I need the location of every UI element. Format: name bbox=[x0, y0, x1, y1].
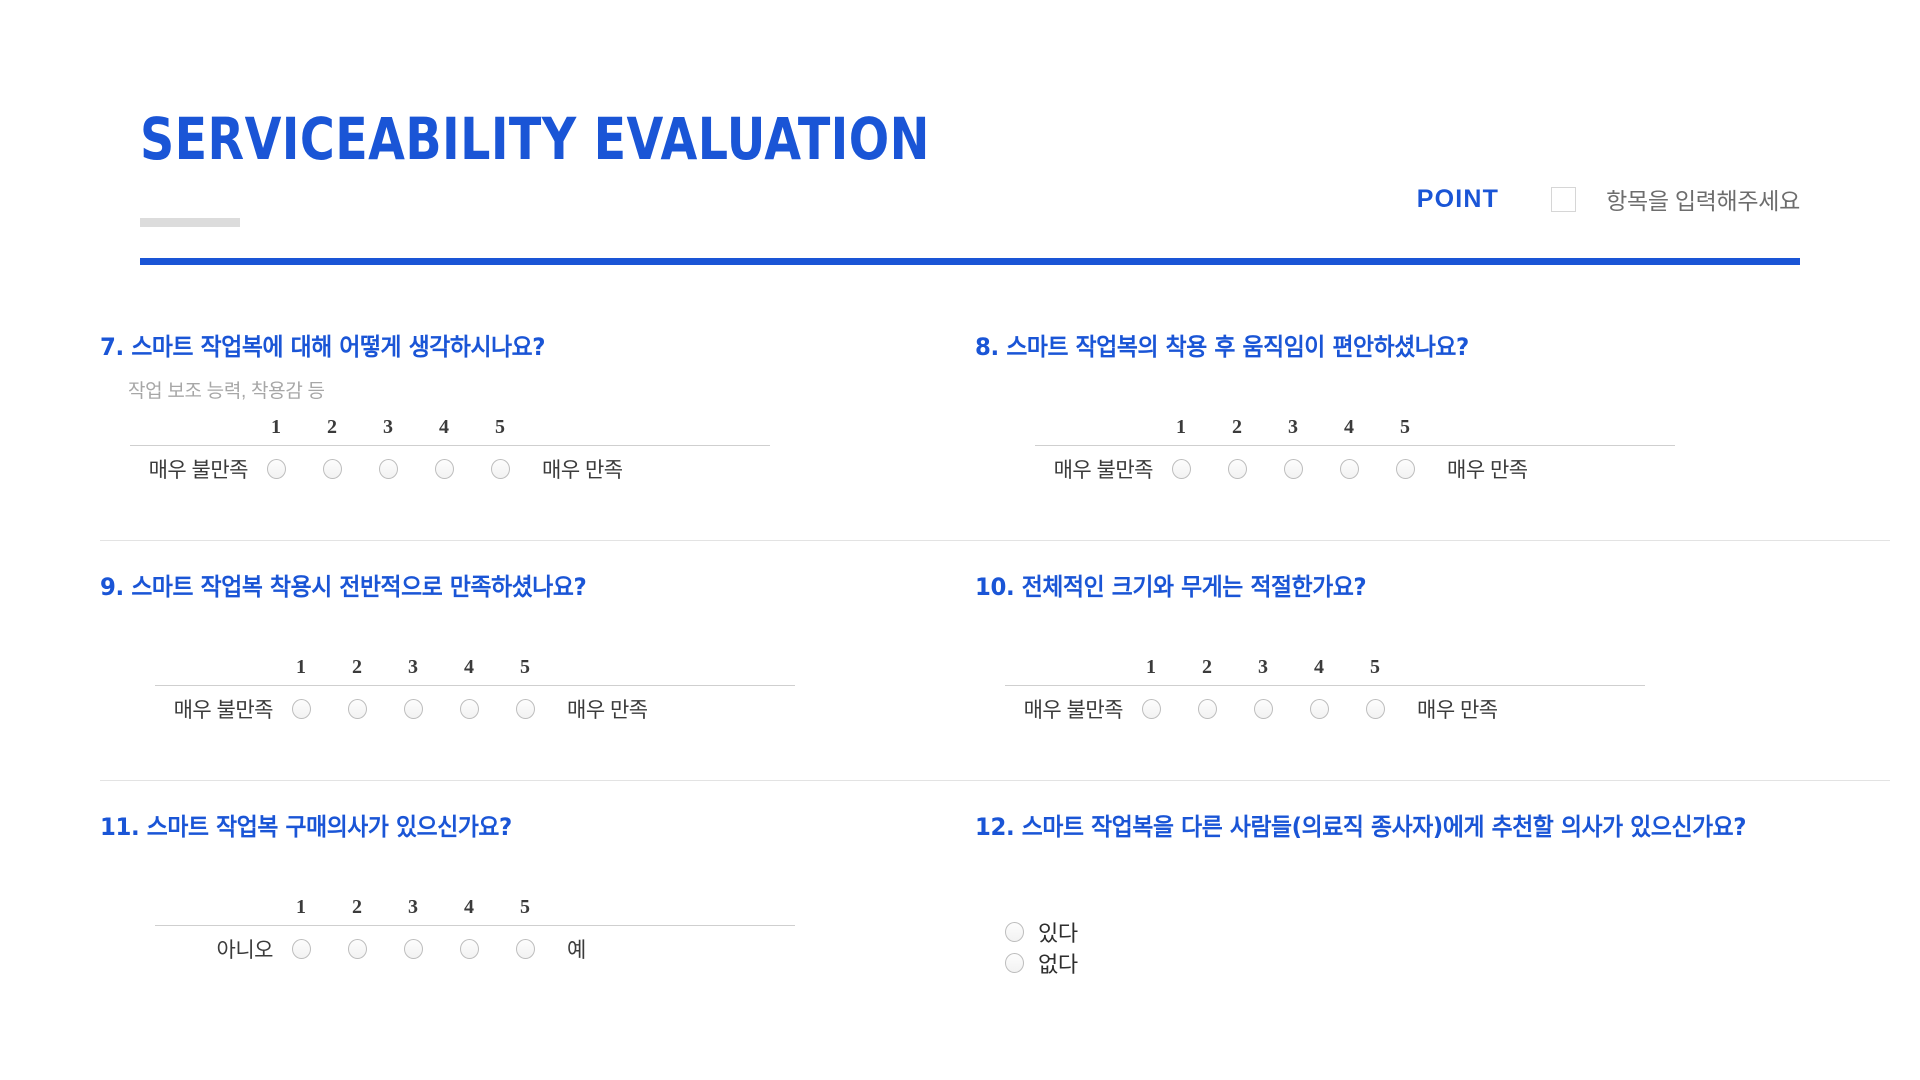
scale-number: 1 bbox=[1123, 656, 1179, 679]
question-title: 8. 스마트 작업복의 착용 후 움직임이 편안하셨나요? bbox=[975, 300, 1830, 368]
radio-button-icon[interactable] bbox=[435, 459, 454, 479]
scale-radio-cell-3[interactable] bbox=[385, 939, 441, 959]
scale-number: 4 bbox=[441, 896, 497, 919]
scale-right-label: 매우 만족 bbox=[1433, 454, 1528, 484]
radio-button-icon[interactable] bbox=[404, 699, 423, 719]
radio-button-icon[interactable] bbox=[1284, 459, 1303, 479]
scale-right-label: 매우 만족 bbox=[528, 454, 623, 484]
question-subtitle: 작업 보조 능력, 착용감 등 bbox=[128, 376, 960, 403]
scale-number: 2 bbox=[1209, 416, 1265, 439]
radio-button-icon[interactable] bbox=[1005, 922, 1024, 942]
scale-number-row: 1 2 3 4 5 bbox=[155, 891, 795, 919]
radio-button-icon[interactable] bbox=[404, 939, 423, 959]
scale-number: 3 bbox=[385, 656, 441, 679]
choice-item-yes[interactable]: 있다 bbox=[1005, 916, 1425, 947]
question-title: 9. 스마트 작업복 착용시 전반적으로 만족하셨나요? bbox=[100, 540, 917, 608]
scale-radio-cell-3[interactable] bbox=[385, 699, 441, 719]
header-divider-rule bbox=[140, 258, 1800, 265]
radio-button-icon[interactable] bbox=[516, 699, 535, 719]
header-right-group: POINT 항목을 입력해주세요 bbox=[1417, 182, 1800, 216]
item-input-placeholder[interactable]: 항목을 입력해주세요 bbox=[1606, 182, 1800, 216]
point-label: POINT bbox=[1417, 185, 1499, 214]
scale-radio-cell-4[interactable] bbox=[441, 939, 497, 959]
scale-number: 5 bbox=[1347, 656, 1403, 679]
likert-scale-9: 1 2 3 4 5 매우 불만족 매우 만족 bbox=[155, 651, 795, 732]
scale-left-label: 아니오 bbox=[155, 934, 273, 964]
scale-radio-cell-5[interactable] bbox=[497, 939, 553, 959]
scale-radio-cell-2[interactable] bbox=[304, 459, 360, 479]
scale-number-row: 1 2 3 4 5 bbox=[130, 411, 770, 439]
scale-number: 3 bbox=[1235, 656, 1291, 679]
radio-button-icon[interactable] bbox=[1310, 699, 1329, 719]
page-title: SERVICEABILITY EVALUATION bbox=[140, 110, 1501, 168]
scale-number: 3 bbox=[1265, 416, 1321, 439]
scale-radio-cell-5[interactable] bbox=[472, 459, 528, 479]
scale-number-row: 1 2 3 4 5 bbox=[155, 651, 795, 679]
scale-number: 2 bbox=[329, 896, 385, 919]
scale-radio-cell-1[interactable] bbox=[248, 459, 304, 479]
scale-radio-cell-4[interactable] bbox=[416, 459, 472, 479]
scale-radio-cell-5[interactable] bbox=[1347, 699, 1403, 719]
scale-radio-cell-5[interactable] bbox=[497, 699, 553, 719]
scale-radio-cell-3[interactable] bbox=[360, 459, 416, 479]
question-cell-12: 12. 스마트 작업복을 다른 사람들(의료직 종사자)에게 추천할 의사가 있… bbox=[975, 780, 1875, 1020]
scale-number: 4 bbox=[1321, 416, 1377, 439]
scale-number: 5 bbox=[497, 656, 553, 679]
radio-button-icon[interactable] bbox=[323, 459, 342, 479]
scale-left-label: 매우 불만족 bbox=[130, 454, 248, 484]
scale-radio-cell-5[interactable] bbox=[1377, 459, 1433, 479]
scale-left-label: 매우 불만족 bbox=[1035, 454, 1153, 484]
question-cell-9: 9. 스마트 작업복 착용시 전반적으로 만족하셨나요? 1 2 3 4 5 매… bbox=[100, 540, 960, 780]
scale-right-label: 매우 만족 bbox=[553, 694, 648, 724]
scale-number: 2 bbox=[304, 416, 360, 439]
likert-scale-7: 1 2 3 4 5 매우 불만족 매우 만족 bbox=[130, 411, 770, 492]
scale-radio-cell-1[interactable] bbox=[273, 699, 329, 719]
radio-button-icon[interactable] bbox=[348, 939, 367, 959]
page-header: SERVICEABILITY EVALUATION POINT 항목을 입력해주… bbox=[140, 110, 1800, 270]
choice-label: 없다 bbox=[1038, 947, 1078, 979]
radio-button-icon[interactable] bbox=[379, 459, 398, 479]
scale-radio-cell-2[interactable] bbox=[1179, 699, 1235, 719]
scale-right-label: 매우 만족 bbox=[1403, 694, 1498, 724]
scale-radio-cell-4[interactable] bbox=[441, 699, 497, 719]
scale-option-row: 아니오 예 bbox=[155, 926, 795, 972]
title-accent-bar bbox=[140, 218, 240, 227]
scale-option-row: 매우 불만족 매우 만족 bbox=[1035, 446, 1675, 492]
radio-button-icon[interactable] bbox=[1254, 699, 1273, 719]
scale-left-label: 매우 불만족 bbox=[1005, 694, 1123, 724]
choice-list-12: 있다 없다 bbox=[1005, 916, 1425, 978]
scale-number: 2 bbox=[1179, 656, 1235, 679]
scale-number: 4 bbox=[1291, 656, 1347, 679]
likert-scale-11: 1 2 3 4 5 아니오 예 bbox=[155, 891, 795, 972]
radio-button-icon[interactable] bbox=[1005, 953, 1024, 973]
scale-number: 3 bbox=[360, 416, 416, 439]
scale-number: 2 bbox=[329, 656, 385, 679]
question-row: 7. 스마트 작업복에 대해 어떻게 생각하시나요? 작업 보조 능력, 착용감… bbox=[0, 300, 1920, 540]
radio-button-icon[interactable] bbox=[460, 699, 479, 719]
scale-right-label: 예 bbox=[553, 934, 586, 964]
scale-number: 1 bbox=[273, 896, 329, 919]
radio-button-icon[interactable] bbox=[348, 699, 367, 719]
scale-option-row: 매우 불만족 매우 만족 bbox=[155, 686, 795, 732]
question-cell-7: 7. 스마트 작업복에 대해 어떻게 생각하시나요? 작업 보조 능력, 착용감… bbox=[100, 300, 960, 540]
scale-number: 4 bbox=[441, 656, 497, 679]
scale-radio-cell-1[interactable] bbox=[273, 939, 329, 959]
question-title: 12. 스마트 작업복을 다른 사람들(의료직 종사자)에게 추천할 의사가 있… bbox=[975, 780, 1830, 848]
checkbox-empty-icon[interactable] bbox=[1551, 187, 1576, 212]
scale-left-label: 매우 불만족 bbox=[155, 694, 273, 724]
scale-radio-cell-4[interactable] bbox=[1291, 699, 1347, 719]
scale-radio-cell-3[interactable] bbox=[1235, 699, 1291, 719]
question-cell-10: 10. 전체적인 크기와 무게는 적절한가요? 1 2 3 4 5 매우 불만족 bbox=[975, 540, 1875, 780]
scale-number: 5 bbox=[472, 416, 528, 439]
scale-radio-cell-1[interactable] bbox=[1123, 699, 1179, 719]
question-title: 10. 전체적인 크기와 무게는 적절한가요? bbox=[975, 540, 1830, 608]
scale-number: 5 bbox=[497, 896, 553, 919]
radio-button-icon[interactable] bbox=[460, 939, 479, 959]
question-row: 9. 스마트 작업복 착용시 전반적으로 만족하셨나요? 1 2 3 4 5 매… bbox=[0, 540, 1920, 780]
likert-scale-8: 1 2 3 4 5 매우 불만족 매우 만족 bbox=[1035, 411, 1675, 492]
scale-radio-cell-4[interactable] bbox=[1321, 459, 1377, 479]
question-grid: 7. 스마트 작업복에 대해 어떻게 생각하시나요? 작업 보조 능력, 착용감… bbox=[0, 300, 1920, 1020]
radio-button-icon[interactable] bbox=[267, 459, 286, 479]
radio-button-icon[interactable] bbox=[516, 939, 535, 959]
radio-button-icon[interactable] bbox=[1340, 459, 1359, 479]
likert-scale-10: 1 2 3 4 5 매우 불만족 매우 만족 bbox=[1005, 651, 1645, 732]
survey-page: SERVICEABILITY EVALUATION POINT 항목을 입력해주… bbox=[0, 0, 1920, 1080]
scale-radio-cell-2[interactable] bbox=[329, 699, 385, 719]
question-title: 7. 스마트 작업복에 대해 어떻게 생각하시나요? bbox=[100, 300, 917, 368]
scale-number: 1 bbox=[273, 656, 329, 679]
radio-button-icon[interactable] bbox=[292, 939, 311, 959]
question-cell-8: 8. 스마트 작업복의 착용 후 움직임이 편안하셨나요? 1 2 3 4 5 … bbox=[975, 300, 1875, 540]
scale-number-row: 1 2 3 4 5 bbox=[1035, 411, 1675, 439]
scale-number: 1 bbox=[1153, 416, 1209, 439]
choice-label: 있다 bbox=[1038, 916, 1078, 948]
scale-number: 3 bbox=[385, 896, 441, 919]
radio-button-icon[interactable] bbox=[292, 699, 311, 719]
radio-button-icon[interactable] bbox=[1172, 459, 1191, 479]
scale-option-row: 매우 불만족 매우 만족 bbox=[130, 446, 770, 492]
radio-button-icon[interactable] bbox=[1366, 699, 1385, 719]
scale-number-row: 1 2 3 4 5 bbox=[1005, 651, 1645, 679]
question-row: 11. 스마트 작업복 구매의사가 있으신가요? 1 2 3 4 5 아니오 bbox=[0, 780, 1920, 1020]
scale-number: 4 bbox=[416, 416, 472, 439]
radio-button-icon[interactable] bbox=[1198, 699, 1217, 719]
scale-radio-cell-2[interactable] bbox=[1209, 459, 1265, 479]
choice-item-no[interactable]: 없다 bbox=[1005, 947, 1425, 978]
radio-button-icon[interactable] bbox=[491, 459, 510, 479]
radio-button-icon[interactable] bbox=[1142, 699, 1161, 719]
scale-radio-cell-1[interactable] bbox=[1153, 459, 1209, 479]
radio-button-icon[interactable] bbox=[1396, 459, 1415, 479]
scale-option-row: 매우 불만족 매우 만족 bbox=[1005, 686, 1645, 732]
scale-radio-cell-2[interactable] bbox=[329, 939, 385, 959]
question-title: 11. 스마트 작업복 구매의사가 있으신가요? bbox=[100, 780, 917, 848]
radio-button-icon[interactable] bbox=[1228, 459, 1247, 479]
scale-number: 1 bbox=[248, 416, 304, 439]
question-cell-11: 11. 스마트 작업복 구매의사가 있으신가요? 1 2 3 4 5 아니오 bbox=[100, 780, 960, 1020]
scale-number: 5 bbox=[1377, 416, 1433, 439]
scale-radio-cell-3[interactable] bbox=[1265, 459, 1321, 479]
